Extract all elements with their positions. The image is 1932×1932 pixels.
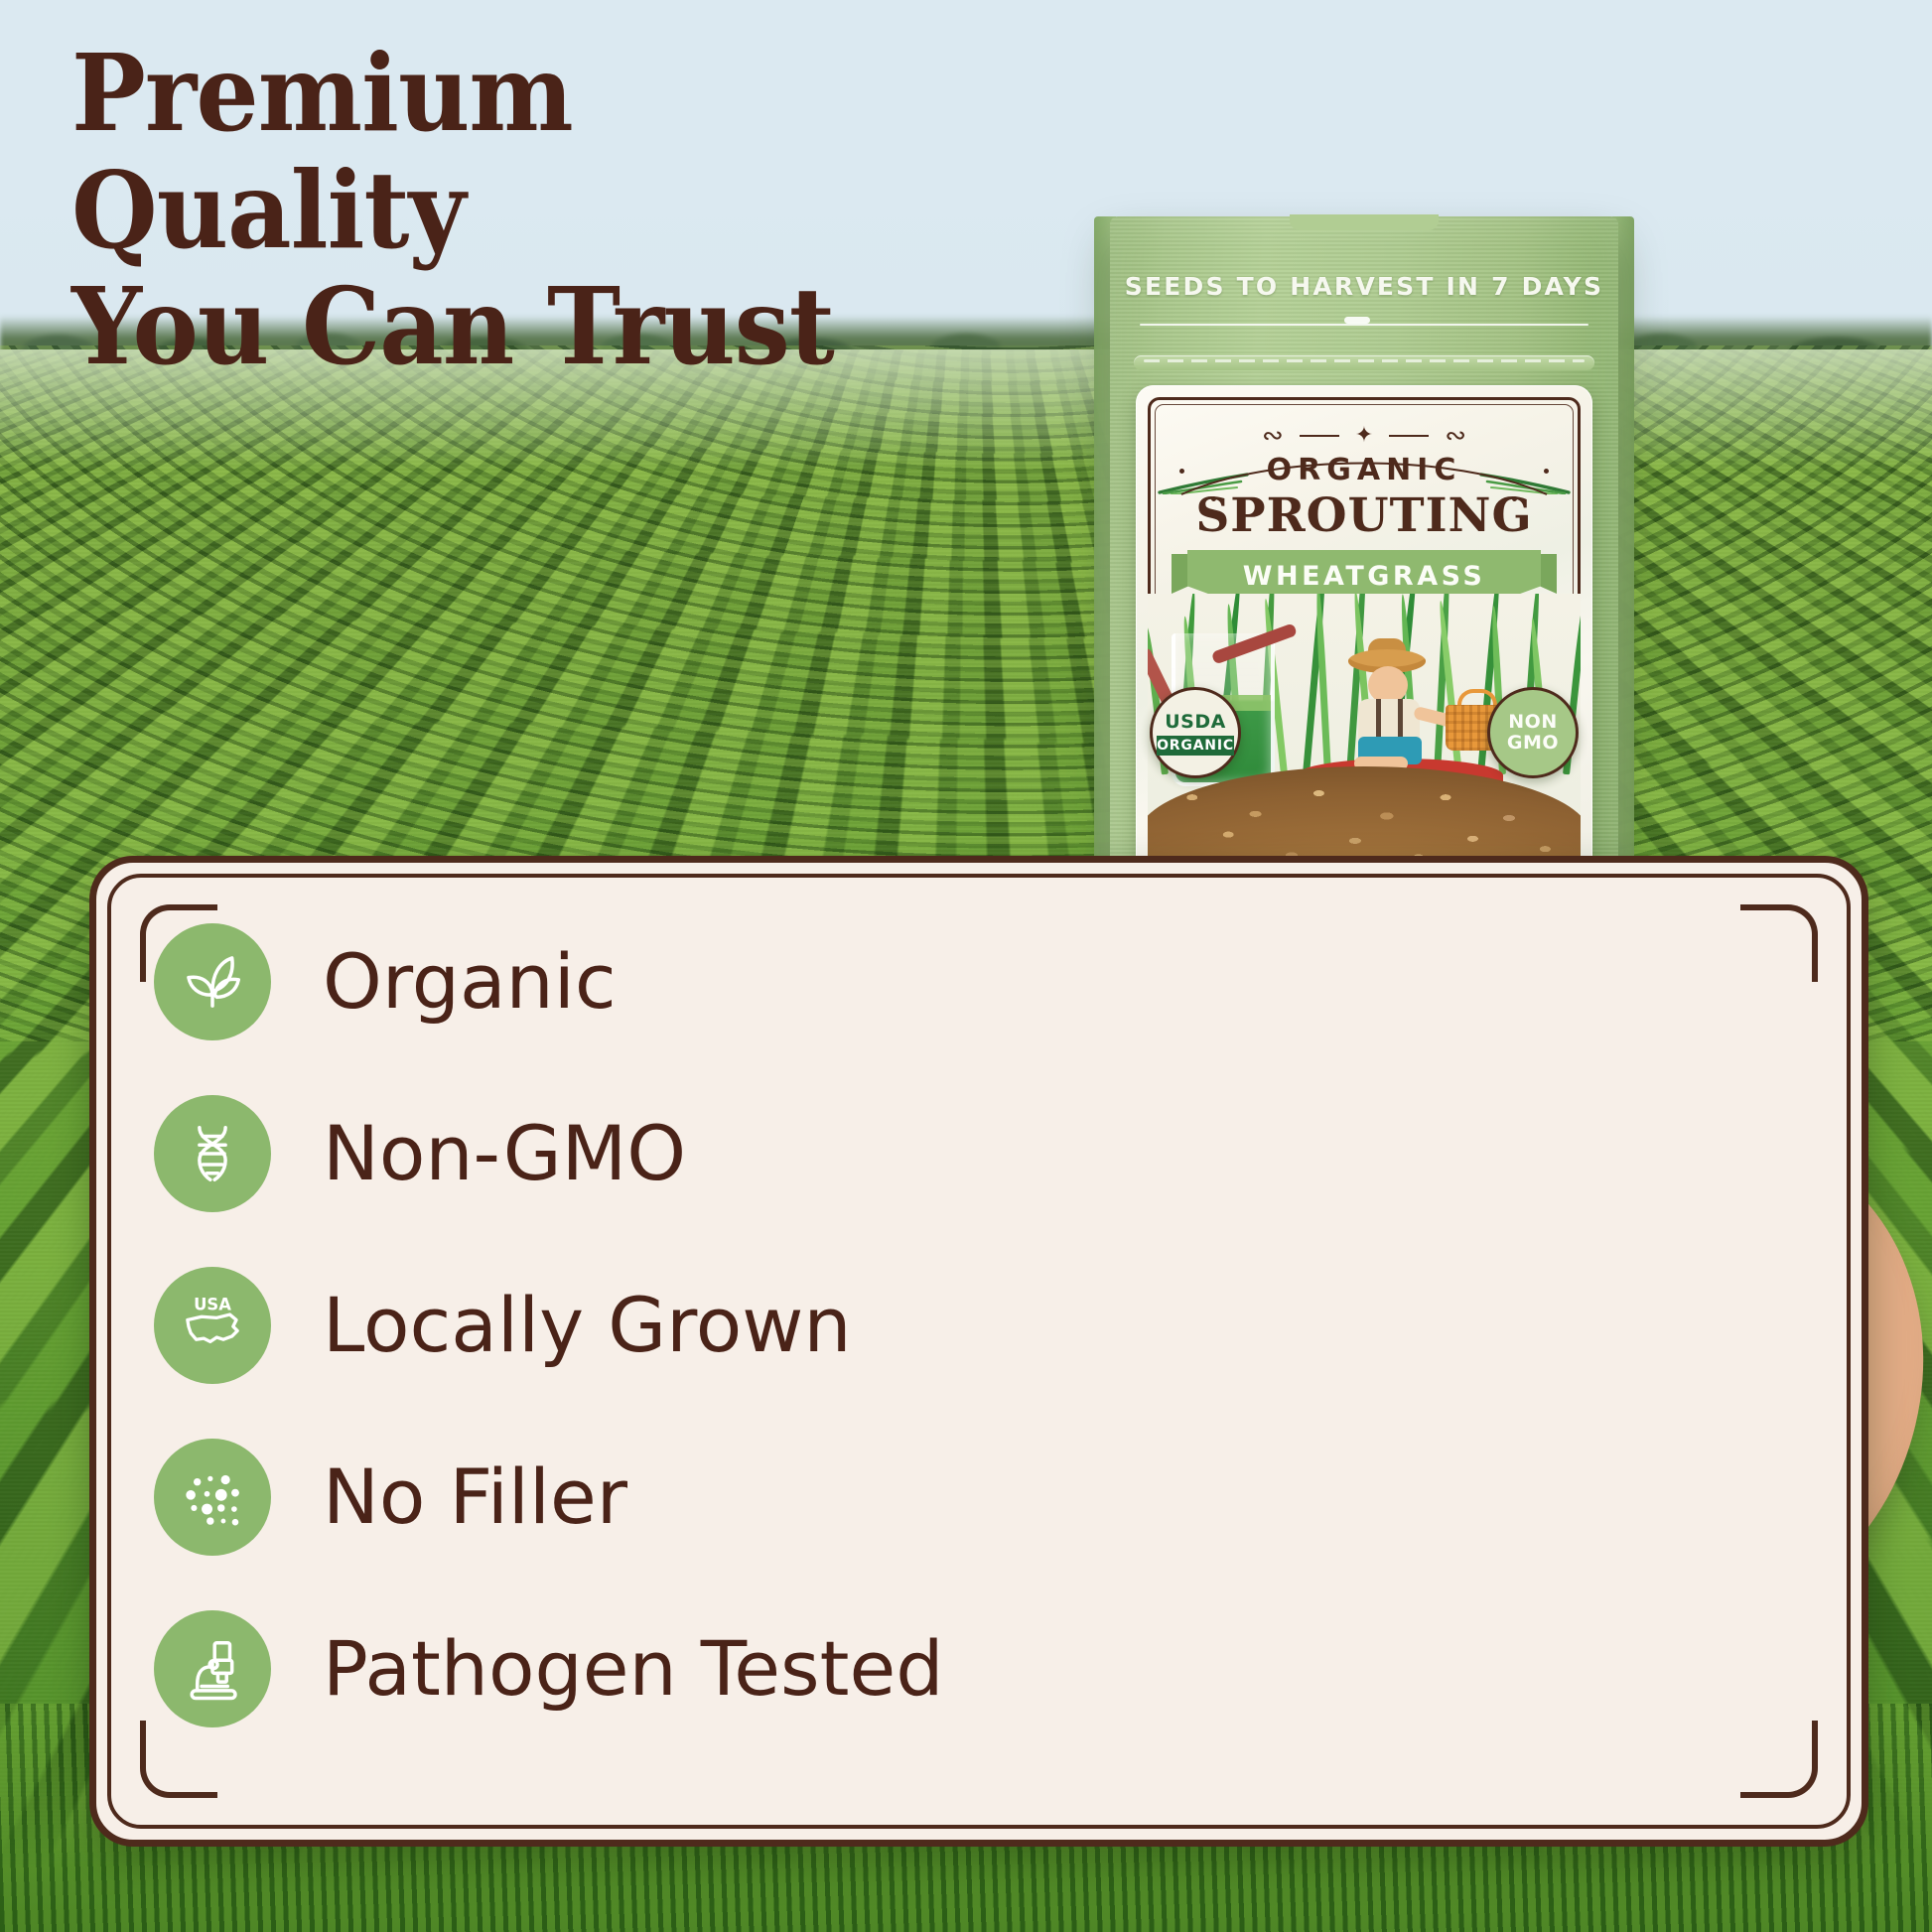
- pouch-zipper: [1134, 355, 1594, 370]
- feature-label-no-filler: No Filler: [323, 1452, 627, 1541]
- package-top-banner-text: SEEDS TO HARVEST IN 7 DAYS: [1110, 272, 1618, 301]
- poster-canvas: Premium Quality You Can Trust SEEDS TO H…: [0, 0, 1932, 1932]
- dna-icon: [154, 1095, 271, 1212]
- usda-organic-badge: USDA ORGANIC: [1150, 687, 1241, 778]
- headline-line-2: You Can Trust: [71, 269, 949, 386]
- flourish-line-left: [1300, 435, 1339, 437]
- usda-badge-line-2: ORGANIC: [1157, 736, 1234, 756]
- card-corner-top-right: [1740, 904, 1818, 982]
- feature-row-pathogen-tested[interactable]: Pathogen Tested: [154, 1591, 1097, 1745]
- flourish-line-right: [1389, 435, 1429, 437]
- feature-label-non-gmo: Non-GMO: [323, 1109, 686, 1197]
- label-eyebrow: ORGANIC: [1136, 453, 1592, 487]
- usda-badge-line-1: USDA: [1165, 711, 1226, 733]
- page-title: Premium Quality You Can Trust: [71, 36, 949, 386]
- feature-label-organic: Organic: [323, 937, 617, 1026]
- farmer-character: [1314, 649, 1473, 778]
- feature-row-organic[interactable]: Organic: [154, 904, 1097, 1058]
- feature-row-locally-grown[interactable]: USA Locally Grown: [154, 1248, 1097, 1402]
- usa-map-icon: USA: [154, 1267, 271, 1384]
- feature-row-non-gmo[interactable]: Non-GMO: [154, 1076, 1097, 1230]
- svg-text:USA: USA: [194, 1295, 231, 1313]
- illustration-seed-pile: [1148, 766, 1581, 870]
- pouch-seam-highlight: [1344, 317, 1370, 324]
- label-variety-text: WHEATGRASS: [1243, 561, 1486, 592]
- feature-label-pathogen-tested: Pathogen Tested: [323, 1624, 943, 1713]
- non-gmo-badge: NON GMO: [1487, 687, 1579, 778]
- feature-row-no-filler[interactable]: No Filler: [154, 1420, 1097, 1574]
- feature-label-locally-grown: Locally Grown: [323, 1281, 852, 1369]
- microscope-icon: [154, 1610, 271, 1727]
- features-list: Organic Non-GMO USA: [154, 904, 1097, 1763]
- features-card: Organic Non-GMO USA: [89, 856, 1868, 1847]
- package-label: ∾ ✦ ∾ ORGANIC SPROUTING SEEDS: [1136, 385, 1592, 882]
- leaf-icon: [154, 923, 271, 1040]
- dots-icon: [154, 1439, 271, 1556]
- pouch-seam: [1140, 324, 1588, 326]
- nongmo-badge-line-2: GMO: [1507, 733, 1559, 754]
- nongmo-badge-line-1: NON: [1508, 712, 1557, 733]
- headline-line-1: Premium Quality: [71, 32, 573, 273]
- pouch-hang-notch: [1290, 214, 1439, 230]
- card-corner-bottom-right: [1740, 1721, 1818, 1798]
